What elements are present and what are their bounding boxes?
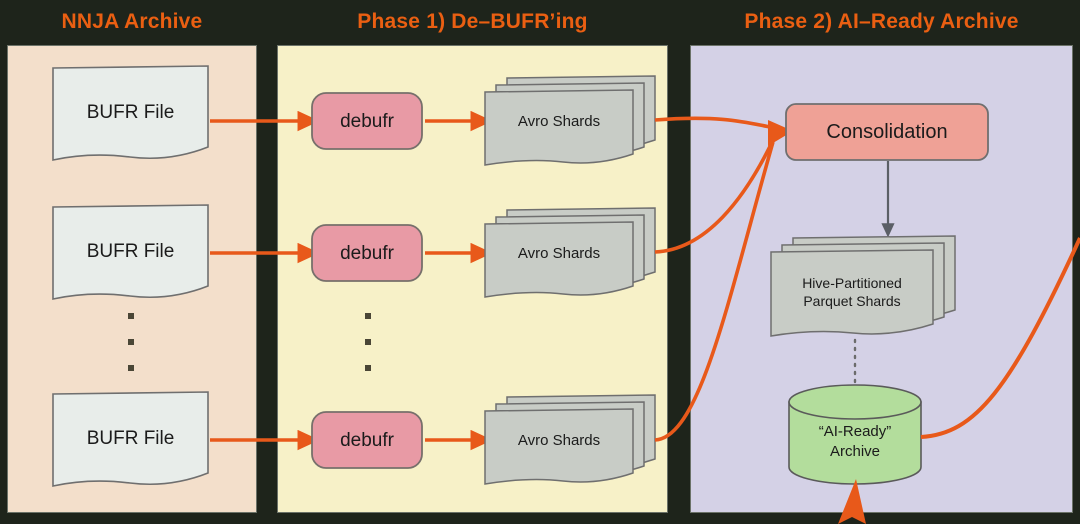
panel-nnja-archive — [7, 45, 257, 513]
panel-title-nnja-archive: NNJA Archive — [7, 10, 257, 34]
panel-title-phase-1: Phase 1) De–BUFR’ing — [277, 10, 668, 34]
diagram-canvas: NNJA Archive Phase 1) De–BUFR’ing Phase … — [0, 0, 1080, 524]
panel-title-phase-2: Phase 2) AI–Ready Archive — [690, 10, 1073, 34]
panel-phase-1 — [277, 45, 668, 513]
panel-phase-2 — [690, 45, 1073, 513]
